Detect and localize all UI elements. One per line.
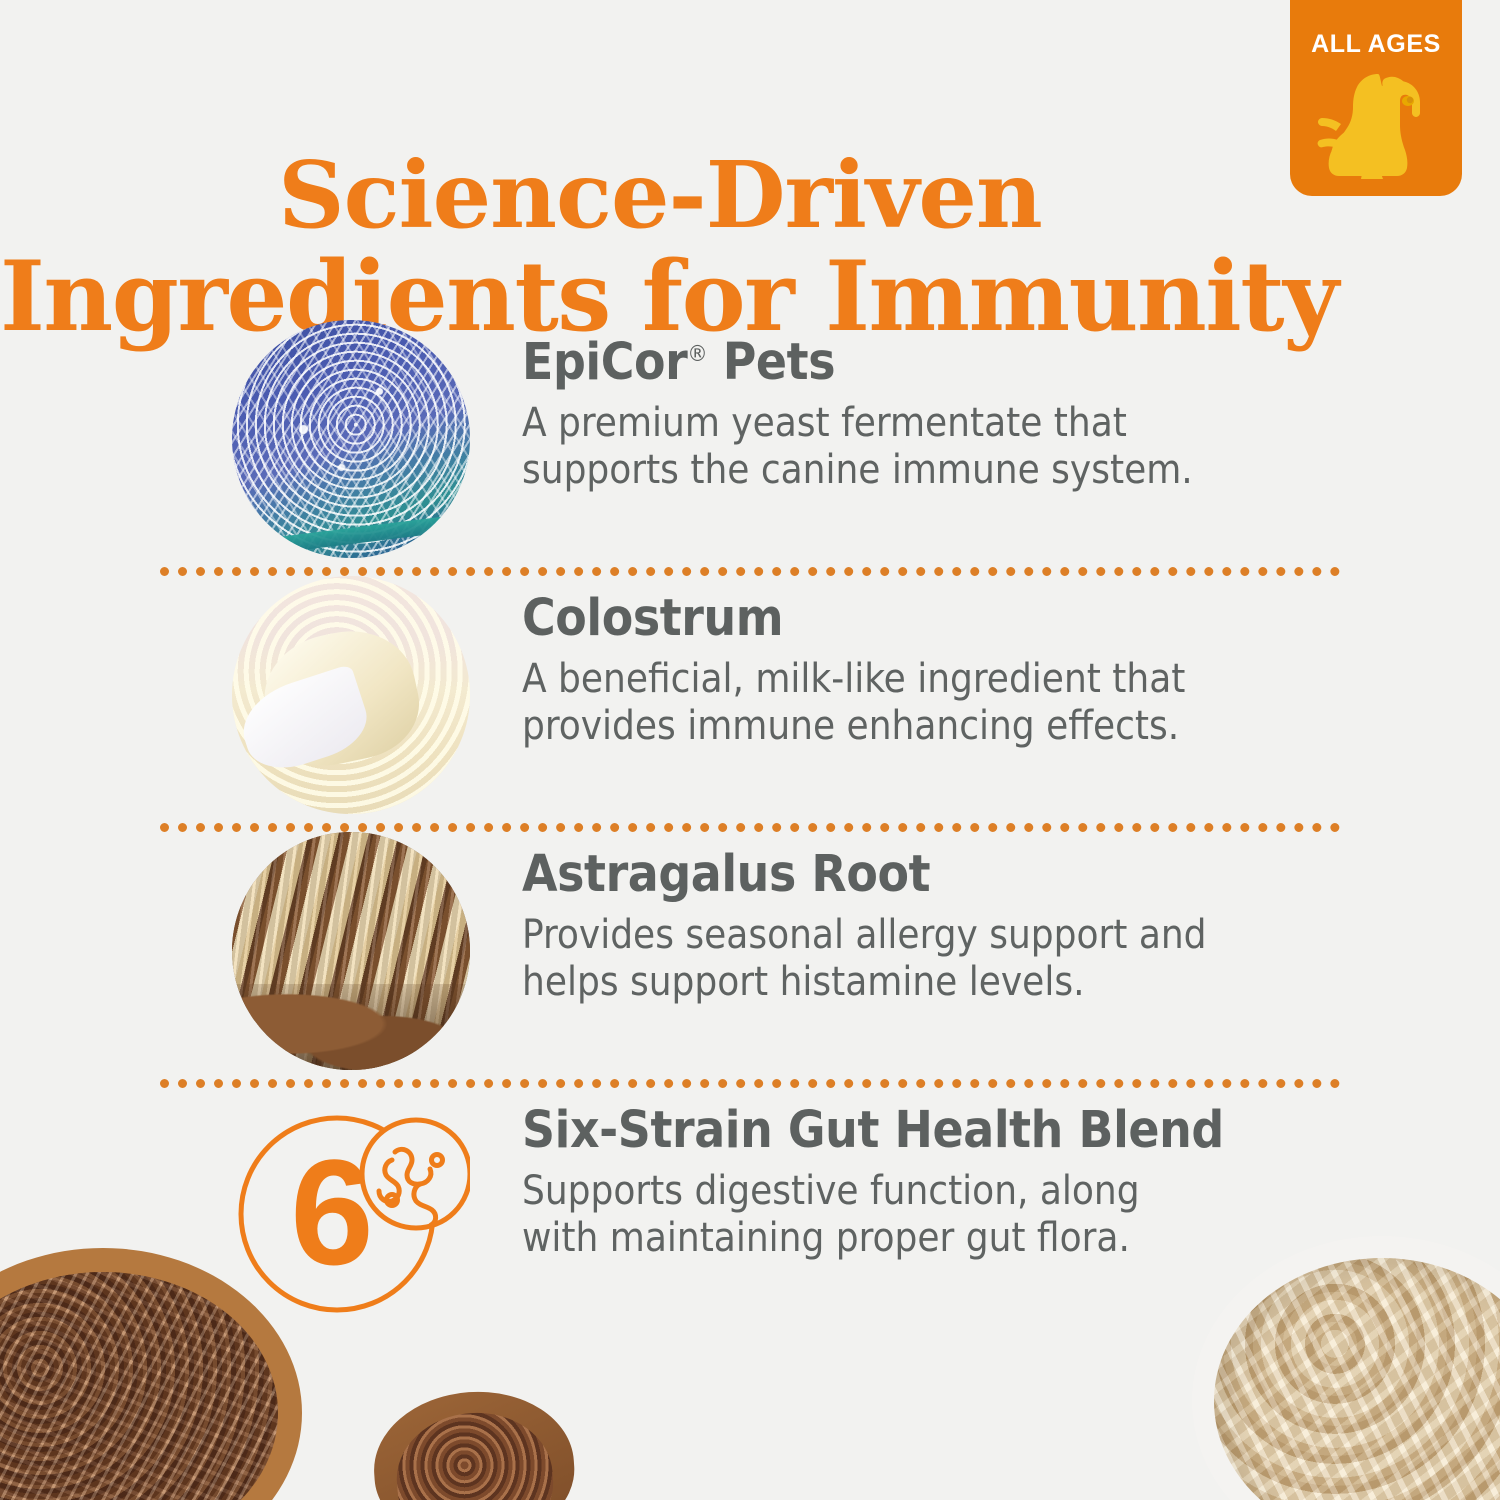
- page-title: Science-Driven Ingredients for Immunity: [0, 146, 1320, 349]
- page-title-line-1: Science-Driven: [0, 146, 1320, 245]
- ingredient-description-line-2: helps support histamine levels.: [522, 959, 1282, 1006]
- six-strain-probiotic-icon: 6: [232, 1088, 470, 1326]
- ingredient-row-astragalus: Astragalus Root Provides seasonal allerg…: [0, 832, 1500, 1079]
- ingredient-title: Astragalus Root: [522, 848, 1500, 902]
- ingredient-row-epicor: EpiCor® Pets A premium yeast fermentate …: [0, 320, 1500, 567]
- colostrum-powder-photo: [232, 576, 470, 814]
- ingredient-row-colostrum: Colostrum A beneficial, milk-like ingred…: [0, 576, 1500, 823]
- registered-trademark-mark: ®: [687, 341, 707, 367]
- ingredient-media: [232, 832, 470, 1070]
- ingredient-description: Supports digestive function, along with …: [522, 1168, 1282, 1262]
- ingredient-description-line-2: supports the canine immune system.: [522, 447, 1282, 494]
- ingredient-text: Astragalus Root Provides seasonal allerg…: [470, 832, 1500, 1006]
- ingredient-description-line-2: provides immune enhancing effects.: [522, 703, 1282, 750]
- ingredient-description-line-1: Provides seasonal allergy support and: [522, 912, 1282, 959]
- petri-dish-photo: [232, 320, 470, 558]
- ingredient-title-suffix: Pets: [707, 333, 835, 392]
- ingredient-description-line-1: Supports digestive function, along: [522, 1168, 1282, 1215]
- ingredient-title-main: Colostrum: [522, 589, 783, 648]
- all-ages-badge: ALL AGES: [1290, 0, 1462, 196]
- ingredient-list: EpiCor® Pets A premium yeast fermentate …: [0, 320, 1500, 1335]
- six-strain-number: 6: [290, 1128, 373, 1296]
- ingredient-description: A beneficial, milk-like ingredient that …: [522, 656, 1282, 750]
- ingredient-description-line-1: A beneficial, milk-like ingredient that: [522, 656, 1282, 703]
- ingredient-description-line-2: with maintaining proper gut flora.: [522, 1215, 1282, 1262]
- ingredient-media: [232, 320, 470, 558]
- ingredient-text: EpiCor® Pets A premium yeast fermentate …: [470, 320, 1500, 494]
- ingredient-title-main: EpiCor: [522, 333, 687, 392]
- ingredient-title-main: Six-Strain Gut Health Blend: [522, 1101, 1224, 1160]
- ingredient-description: Provides seasonal allergy support and he…: [522, 912, 1282, 1006]
- ingredient-description: A premium yeast fermentate that supports…: [522, 400, 1282, 494]
- ingredient-title: EpiCor® Pets: [522, 336, 1500, 390]
- ingredient-row-six-strain: 6 Six-Strain Gut Health Blend Supports d…: [0, 1088, 1500, 1335]
- all-ages-badge-label: ALL AGES: [1290, 30, 1462, 59]
- ingredient-description-line-1: A premium yeast fermentate that: [522, 400, 1282, 447]
- ingredient-media: [232, 576, 470, 814]
- astragalus-root-photo: [232, 832, 470, 1070]
- dotted-divider: [160, 567, 1340, 576]
- ingredient-text: Six-Strain Gut Health Blend Supports dig…: [470, 1088, 1500, 1262]
- ingredient-media: 6: [232, 1088, 470, 1326]
- dotted-divider: [160, 823, 1340, 832]
- ingredient-text: Colostrum A beneficial, milk-like ingred…: [470, 576, 1500, 750]
- sitting-dog-icon: [1312, 66, 1440, 182]
- ingredient-title-main: Astragalus Root: [522, 845, 930, 904]
- dotted-divider: [160, 1079, 1340, 1088]
- infographic-page: ALL AGES Science-Driven Ingredients for …: [0, 0, 1500, 1500]
- ingredient-title: Six-Strain Gut Health Blend: [522, 1104, 1500, 1158]
- ingredient-title: Colostrum: [522, 592, 1500, 646]
- flax-seed-spoon-photo: [369, 1385, 579, 1500]
